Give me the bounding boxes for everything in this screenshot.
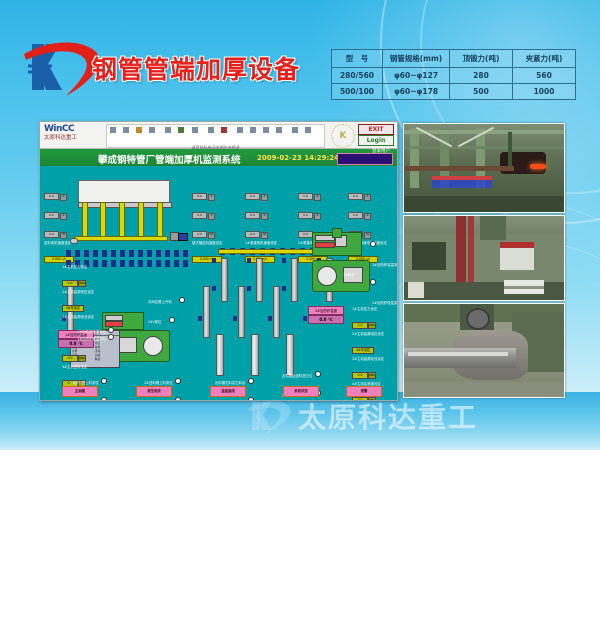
status-led (175, 378, 181, 384)
watermark-logo-icon (246, 398, 292, 436)
toolbar-icon-save[interactable] (136, 127, 142, 133)
valve-icon[interactable] (303, 316, 307, 321)
valve-icon[interactable] (138, 260, 143, 267)
indicator-label: 中间位置上升料 (148, 300, 172, 304)
valve-icon[interactable] (156, 260, 161, 267)
wincc-logo-text: WinCC (44, 124, 102, 134)
spec-table-row: 280/560 φ60~φ127 280 560 (332, 68, 576, 84)
valve-icon[interactable] (183, 260, 188, 267)
status-led (108, 334, 114, 340)
nav-button-hydraulic-system[interactable]: 液压系统 (136, 386, 172, 397)
riser-pipe (82, 202, 88, 240)
indicator-label: 2#加热炉高温到位 (372, 263, 397, 267)
status-value: 0.0 (245, 193, 260, 200)
status-unit: A (208, 213, 215, 220)
hmi-timestamp: 2009-02-23 14:29:24 (257, 154, 339, 162)
spec-header-model: 型 号 (332, 50, 383, 68)
status-led (169, 317, 175, 323)
toolbar-icon-run[interactable] (292, 127, 298, 133)
valve-icon[interactable] (174, 260, 179, 267)
spec-header-upset-force: 顶锻力(吨) (450, 50, 513, 68)
status-unit: A (364, 194, 371, 201)
temp-label: 2#加热炉温度 (308, 306, 344, 315)
toolbar-icon-open[interactable] (123, 127, 129, 133)
status-led (315, 371, 321, 377)
cylinder-body (216, 334, 222, 374)
param-value[interactable]: 0.0 (352, 372, 368, 379)
spec-cell: φ60~φ127 (383, 68, 450, 84)
indicator-label: 1#转炉 (343, 273, 355, 277)
indicator-1hot: 1#转炉 (343, 261, 355, 280)
wincc-logo-sub: 太原科达重工 (44, 134, 102, 142)
cylinder-rod (291, 258, 296, 300)
factory-rolling-line-photo (403, 123, 565, 213)
status-value: 0.0 (192, 212, 207, 219)
spec-header-pipe-size: 钢管规格(mm) (383, 50, 450, 68)
status-unit: A (261, 194, 268, 201)
page-title: 钢管管端加厚设备 (92, 50, 300, 86)
cylinder-rod (238, 286, 243, 336)
toolbar-icon-undo[interactable] (208, 127, 214, 133)
hmi-header-bar: 攀成钢特管厂管端加厚机监测系统 2009-02-23 14:29:24 登录用户 (40, 149, 397, 166)
list-item[interactable]: 联动 (95, 357, 118, 361)
toolbar-icon-zoom[interactable] (237, 127, 243, 133)
status-value: 0.0 (245, 231, 260, 238)
status-led (101, 397, 107, 400)
hmi-toolbar-area: WinCC 太原科达重工 请用鼠标拖动本图的选择键 (40, 122, 397, 149)
toolbar-icon-redo[interactable] (221, 127, 227, 133)
indicator-label: 1#送料槽上料到位 (70, 381, 99, 385)
status-value: 0.0 (298, 212, 313, 219)
status-led (370, 241, 376, 247)
riser-pipe (157, 202, 163, 240)
toolbar-icon-group[interactable] (276, 127, 282, 133)
cylinder-rod (203, 286, 208, 336)
tank-vessel (78, 180, 170, 204)
indicator-label: 2#加热炉低温到位 (372, 301, 397, 305)
param-unit: MPa (368, 372, 376, 379)
spec-cell: 280/560 (332, 68, 383, 84)
indicator-group-right: 2#加热炉高温到位 2#加热炉低温到位 (370, 232, 397, 308)
indicator-label: 2#送料槽上料到位 (144, 381, 173, 385)
status-value: 0.0 (298, 231, 313, 238)
valve-icon[interactable] (120, 260, 125, 267)
factory-press-machine-photo (403, 215, 565, 301)
motor-icon (178, 233, 188, 241)
valve-icon[interactable] (129, 260, 134, 267)
machine-unit-right-main (312, 260, 370, 292)
spec-cell: 1000 (513, 84, 576, 100)
status-unit: A (261, 213, 268, 220)
status-unit: A (60, 194, 67, 201)
status-unit: A (208, 194, 215, 201)
valve-icon[interactable] (247, 258, 251, 263)
valve-icon[interactable] (147, 260, 152, 267)
pipe-end-closeup-photo (403, 303, 565, 398)
wincc-logo: WinCC 太原科达重工 (44, 124, 102, 142)
toolbar-icon-paste[interactable] (192, 127, 198, 133)
login-user-field[interactable] (337, 153, 393, 165)
header-manifold-pipe (74, 236, 168, 241)
valve-icon[interactable] (268, 316, 272, 321)
spec-table: 型 号 钢管规格(mm) 顶锻力(吨) 夹紧力(吨) 280/560 φ60~φ… (331, 49, 576, 100)
riser-pipe (100, 202, 106, 240)
status-value: 0.0 (192, 231, 207, 238)
valve-icon[interactable] (111, 260, 116, 267)
spec-cell: 500/100 (332, 84, 383, 100)
toolbar[interactable]: 请用鼠标拖动本图的选择键 (106, 124, 325, 148)
spec-table-row: 500/100 φ60~φ178 500 1000 (332, 84, 576, 100)
toolbar-icon-grid[interactable] (250, 127, 256, 133)
riser-pipe (119, 202, 125, 240)
valve-icon[interactable] (212, 286, 216, 291)
spec-table-header-row: 型 号 钢管规格(mm) 顶锻力(吨) 夹紧力(吨) (332, 50, 576, 68)
status-value: 0.0 (44, 212, 59, 219)
toolbar-icon-copy[interactable] (178, 127, 184, 133)
riser-pipe (138, 202, 144, 240)
spec-cell: φ60~φ178 (383, 84, 450, 100)
spec-cell: 280 (450, 68, 513, 84)
param-unit: MPa (78, 355, 86, 362)
valve-icon[interactable] (165, 260, 170, 267)
status-value: 0.0 (44, 231, 59, 238)
param-unit: MPa (368, 322, 376, 329)
temp-value: 0.0 ℃ (308, 315, 344, 324)
indicator-center-feed: 中间位置上升料 (148, 288, 185, 307)
kd-logo (22, 36, 102, 98)
cylinder-rod (221, 258, 226, 300)
valve-icon[interactable] (282, 286, 286, 291)
status-value: 0.0 (192, 193, 207, 200)
status-led (370, 279, 376, 285)
status-led (248, 378, 254, 384)
exit-button[interactable]: EXIT (358, 124, 394, 135)
status-unit: Hz (60, 232, 67, 239)
furnace-temp-right: 2#加热炉温度 0.0 ℃ (308, 306, 344, 324)
status-value: 0.0 (348, 212, 363, 219)
status-unit: A (314, 194, 321, 201)
login-button[interactable]: Login (358, 135, 394, 146)
param-unit: MPa (78, 280, 86, 287)
valve-icon[interactable] (233, 316, 237, 321)
status-unit: A (364, 213, 371, 220)
status-led (175, 397, 181, 400)
status-unit: A (60, 213, 67, 220)
valve-icon[interactable] (102, 260, 107, 267)
param-value[interactable]: 0#号设定 (352, 347, 374, 354)
analog-clock-icon: K (331, 124, 355, 148)
status-value: 0.0 (298, 193, 313, 200)
param-value[interactable]: 0#号设定 (62, 305, 84, 312)
status-unit: A (314, 213, 321, 220)
machine-unit-left-main (112, 330, 170, 362)
param-value[interactable]: 0.0 (352, 322, 368, 329)
indicator-label: 出料槽右料区右料台 (215, 381, 246, 385)
cylinder-rod (256, 258, 261, 300)
valve-icon[interactable] (247, 286, 251, 291)
spec-cell: 560 (513, 68, 576, 84)
nav-button-main-screen[interactable]: 主画面 (62, 386, 98, 397)
valve-icon[interactable] (212, 258, 216, 263)
toolbar-icon-stop[interactable] (305, 127, 311, 133)
valve-icon[interactable] (282, 258, 286, 263)
indicator-label: 24V到位 (148, 320, 161, 324)
indicator-label: 出料槽运送料放左位 (282, 374, 313, 378)
status-unit: Hz (208, 232, 215, 239)
watermark-text: 太原科达重工 (298, 396, 478, 436)
cylinder-body (251, 334, 257, 374)
status-unit: Hz (261, 232, 268, 239)
param-value[interactable]: 0.0 (62, 355, 78, 362)
status-value: 0.0 (44, 193, 59, 200)
toolbar-icon-cut[interactable] (165, 127, 171, 133)
param-value[interactable]: 0.0 (62, 280, 78, 287)
toolbar-icon-print[interactable] (149, 127, 155, 133)
hmi-mimic-canvas: 0.0A 0.0A 0.0Hz 进料电机速度设定 0.000 r/s 0.0A … (40, 166, 397, 400)
toolbar-icon-new[interactable] (110, 127, 116, 133)
nav-button-temp-curve[interactable]: 温度曲线 (210, 386, 246, 397)
small-machine-block (332, 228, 342, 238)
hmi-window: WinCC 太原科达重工 请用鼠标拖动本图的选择键 (39, 121, 398, 401)
cylinder-rod (273, 286, 278, 336)
valve-icon[interactable] (198, 316, 202, 321)
status-led (101, 378, 107, 384)
spec-cell: 500 (450, 84, 513, 100)
spec-header-clamp-force: 夹紧力(吨) (513, 50, 576, 68)
indicator-label: 1#加热炉低温到位 (77, 337, 106, 341)
status-value: 0.0 (245, 212, 260, 219)
hmi-header-title: 攀成钢特管厂管端加厚机监测系统 (98, 152, 241, 166)
status-led (179, 297, 185, 303)
status-value: 0.0 (348, 193, 363, 200)
toolbar-icon-align[interactable] (263, 127, 269, 133)
indicator-24v: 24V到位 (148, 308, 175, 327)
